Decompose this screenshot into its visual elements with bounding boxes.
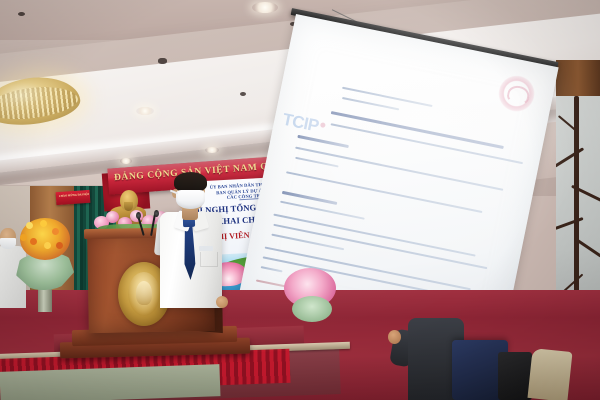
flower-bloom bbox=[30, 238, 37, 245]
slide-text-line bbox=[297, 135, 349, 148]
podium-emblem-figure bbox=[128, 272, 161, 317]
ceiling-downlight bbox=[205, 147, 219, 153]
welcome-wall-sign-text: CHÀO MỪNG ĐẠI HỘI bbox=[58, 193, 90, 199]
flower-bloom bbox=[20, 234, 27, 241]
speaker-hand bbox=[216, 296, 228, 308]
ceiling-speaker-grille bbox=[240, 92, 246, 96]
slide-text-line bbox=[273, 224, 487, 270]
slide-watermark-text: TCIP bbox=[281, 110, 321, 137]
flower-arrangement-right bbox=[284, 268, 340, 324]
welcome-wall-sign: CHÀO MỪNG ĐẠI HỘI bbox=[56, 190, 91, 205]
flower-bloom bbox=[106, 211, 119, 223]
slide-watermark-dot bbox=[320, 122, 326, 128]
flower-bloom bbox=[44, 242, 51, 249]
tree-branch bbox=[556, 147, 584, 168]
slide-text-line bbox=[342, 87, 433, 108]
speaker-shirt-pocket bbox=[200, 252, 218, 267]
tree-branch bbox=[556, 217, 584, 230]
slide-text-line bbox=[273, 214, 475, 257]
ceiling-downlight bbox=[136, 107, 154, 115]
speaker-name-badge bbox=[199, 246, 213, 251]
microphone-head-icon bbox=[154, 210, 159, 217]
flower-bloom bbox=[56, 242, 63, 249]
slide-text-line bbox=[295, 157, 339, 168]
microphone-head-icon bbox=[136, 212, 141, 219]
attendee-foreground-hand bbox=[388, 330, 401, 344]
speaker-face-mask bbox=[176, 190, 205, 209]
flower-bloom bbox=[40, 220, 47, 227]
slide-logo-icon bbox=[495, 72, 537, 114]
slide-text-line bbox=[342, 97, 399, 111]
speaker-hair bbox=[174, 172, 207, 192]
ceiling-speaker-grille bbox=[18, 12, 25, 16]
conference-hall-photo: ☭ ĐẢNG CỘNG SẢN VIỆT NAM QUANG VINH MUÔN… bbox=[0, 0, 600, 400]
flower-stand-left bbox=[12, 214, 78, 310]
flower-bloom bbox=[26, 222, 33, 229]
ceiling-sensor bbox=[158, 58, 167, 64]
slide-text-line bbox=[261, 266, 283, 273]
foreground-bag-secondary bbox=[498, 352, 532, 400]
ceiling-downlight bbox=[120, 158, 132, 164]
flower-bloom bbox=[52, 228, 59, 235]
ceiling-downlight bbox=[252, 2, 278, 13]
foreground-chair bbox=[527, 348, 572, 400]
flower-foliage bbox=[292, 296, 332, 322]
